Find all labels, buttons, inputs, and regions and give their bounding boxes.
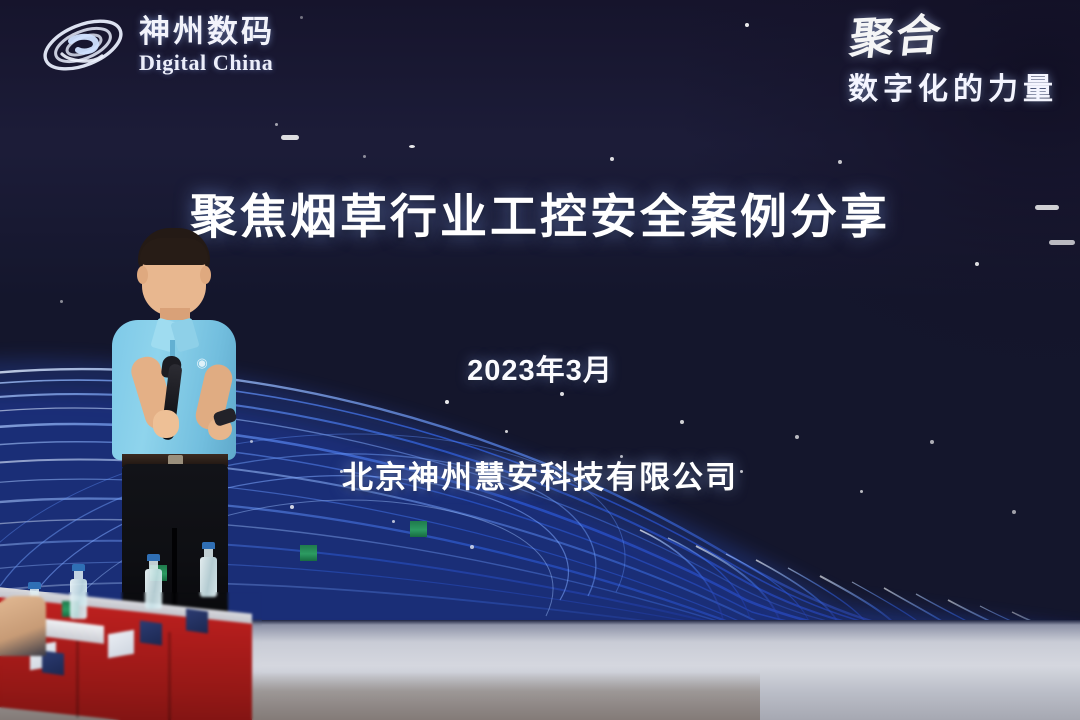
particle-dot [409, 145, 415, 148]
particle-dot [975, 262, 979, 266]
water-bottle [200, 542, 217, 597]
table-cloth-seam [168, 632, 171, 720]
particle-dot [300, 16, 303, 19]
name-card [108, 630, 134, 659]
particle-dot [275, 123, 278, 126]
bottle-cap [72, 564, 85, 571]
brand-name-cn: 神州数码 [139, 16, 275, 47]
digital-china-brand: 神州数码 Digital China [40, 14, 275, 76]
presenter-ear-left [137, 266, 148, 284]
water-bottle [145, 554, 162, 609]
event-calligraphy: 聚合 [847, 14, 944, 63]
name-card [140, 620, 162, 645]
brand-name-en: Digital China [139, 52, 275, 74]
presenter-hand-left [153, 410, 179, 438]
presenter-hair-front [140, 238, 208, 265]
bottle-neck [204, 549, 213, 557]
water-bottle [70, 564, 87, 619]
particle-dot [281, 135, 299, 140]
bottle-neck [74, 571, 83, 579]
particle-dot [838, 160, 842, 164]
bottle-label [300, 545, 317, 561]
bottle-cap [202, 542, 215, 549]
bottle-cap [147, 554, 160, 561]
particle-dot [610, 157, 614, 161]
bottle-neck [149, 561, 158, 569]
particle-dot [745, 23, 749, 27]
event-slogan: 数字化的力量 [848, 64, 1058, 108]
presenter-ear-right [200, 266, 211, 284]
bottle-label [410, 521, 427, 537]
seated-attendee [0, 596, 46, 656]
digital-china-wordmark: 神州数码 Digital China [139, 16, 275, 74]
name-card [186, 608, 208, 633]
bottle-body [70, 579, 87, 619]
bottle-body [200, 557, 217, 597]
presenter-figure: ◉ [96, 228, 246, 628]
bottle-body [145, 569, 162, 609]
conference-stage-photo: 神州数码 Digital China 聚合 数字化的力量 聚焦烟草行业工控安全案… [0, 0, 1080, 720]
swirl-logo-svg [40, 14, 126, 76]
digital-china-swirl-logo-icon [40, 14, 126, 76]
event-slogan-block: 聚合 数字化的力量 [848, 16, 1058, 108]
bottle-cap [28, 582, 41, 589]
particle-dot [363, 155, 366, 158]
